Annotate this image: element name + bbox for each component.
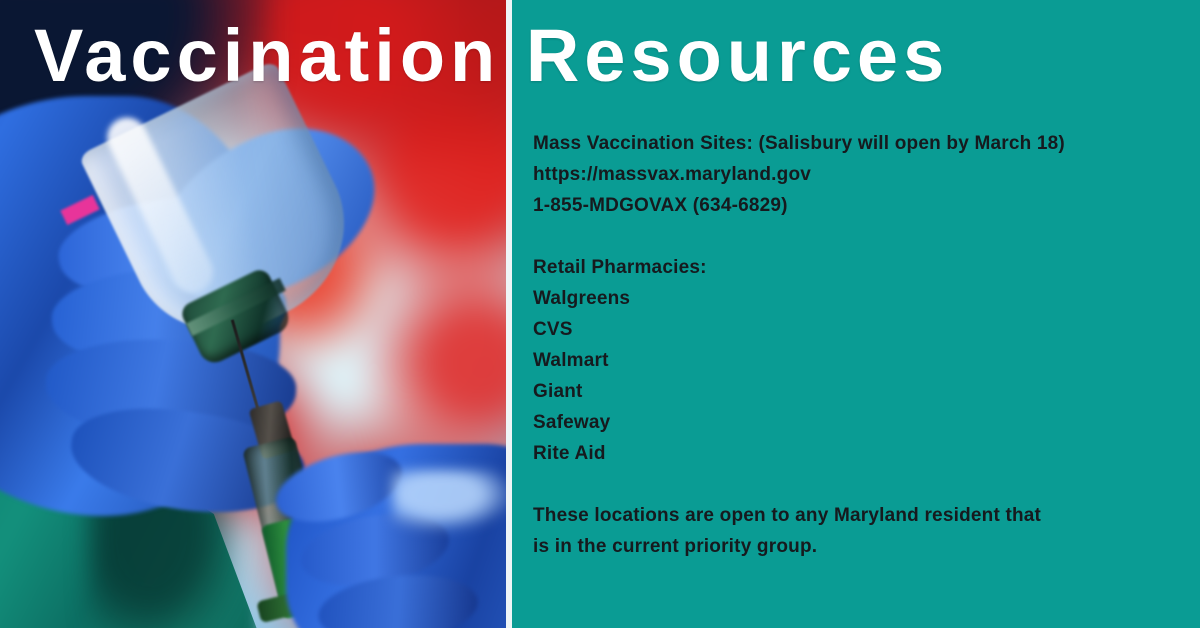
list-item: Walmart — [533, 345, 1192, 376]
mass-vaccination-sites-block: Mass Vaccination Sites: (Salisbury will … — [533, 128, 1192, 221]
eligibility-note-line-1: These locations are open to any Maryland… — [533, 500, 1192, 531]
list-item: Walgreens — [533, 283, 1192, 314]
list-item: CVS — [533, 314, 1192, 345]
retail-pharmacies-block: Retail Pharmacies: Walgreens CVS Walmart… — [533, 252, 1192, 469]
glove-highlight — [392, 470, 506, 530]
mass-sites-phone[interactable]: 1-855-MDGOVAX (634-6829) — [533, 190, 1192, 221]
list-item: Safeway — [533, 407, 1192, 438]
mass-sites-url[interactable]: https://massvax.maryland.gov — [533, 159, 1192, 190]
retail-pharmacies-heading: Retail Pharmacies: — [533, 252, 1192, 283]
page-title: Vaccination Resources — [0, 0, 1200, 112]
eligibility-note-line-2: is in the current priority group. — [533, 531, 1192, 562]
eligibility-note: These locations are open to any Maryland… — [533, 500, 1192, 562]
vaccination-resources-poster: Mass Vaccination Sites: (Salisbury will … — [0, 0, 1200, 628]
list-item: Rite Aid — [533, 438, 1192, 469]
list-item: Giant — [533, 376, 1192, 407]
mass-sites-heading: Mass Vaccination Sites: (Salisbury will … — [533, 128, 1192, 159]
